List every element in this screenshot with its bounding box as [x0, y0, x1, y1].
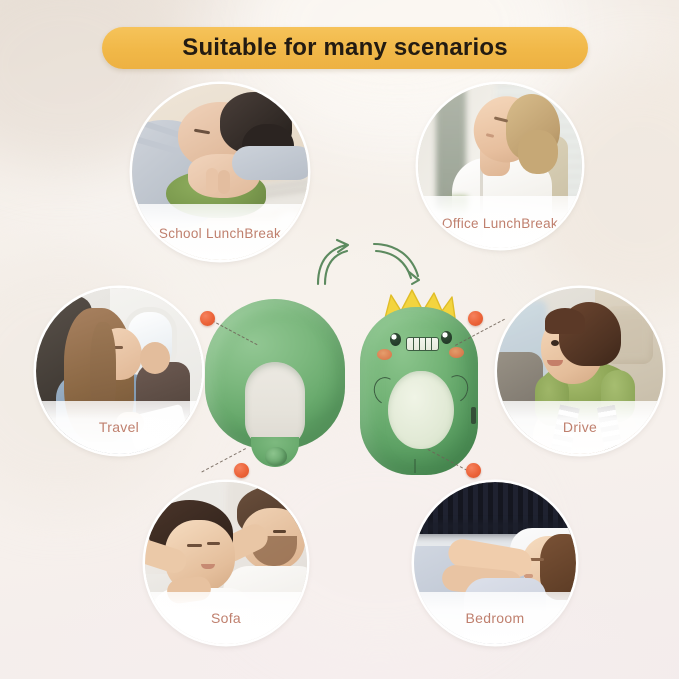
connector-dot-dino-to-drive: [468, 311, 483, 326]
scene-label-drive: Drive: [497, 401, 663, 454]
scene-bedroom[interactable]: Bedroom: [414, 482, 576, 644]
u-pillow-snap-button: [265, 447, 287, 466]
product-group: [200, 285, 500, 485]
scene-label-bedroom: Bedroom: [414, 592, 576, 644]
u-pillow-opening: [245, 362, 305, 448]
scene-label-line-2: Break: [244, 226, 281, 242]
page-title: Suitable for many scenarios: [182, 34, 508, 62]
scene-label-travel: Travel: [36, 401, 202, 454]
dino-fabric-tag: [471, 407, 476, 424]
scene-label-line-1: Travel: [99, 419, 139, 436]
dino-tooth: [425, 338, 426, 350]
scene-label-line-1: Sofa: [211, 610, 241, 627]
connector-dot-dino-to-bedroom: [466, 463, 481, 478]
dino-cheek-right: [449, 347, 464, 358]
connector-dot-u-pillow-to-sofa: [234, 463, 249, 478]
dino-cheek-left: [377, 349, 392, 360]
infographic-canvas: Suitable for many scenarios: [0, 0, 679, 679]
product-dino-plush[interactable]: [352, 289, 487, 479]
transform-arrows: [312, 238, 432, 286]
arrow-curve-left-up: [318, 245, 346, 284]
dino-tooth: [431, 338, 432, 350]
dino-eye-right: [441, 331, 452, 344]
connector-dot-u-pillow-to-travel: [200, 311, 215, 326]
scene-label-school-lunch-break: School Lunch Break: [132, 204, 308, 260]
scene-school-lunch-break[interactable]: School Lunch Break: [132, 84, 308, 260]
scene-label-line-2: Break: [521, 216, 558, 232]
dino-bottom-seam: [414, 459, 416, 473]
arrow-curve-left-up-inner: [325, 251, 347, 284]
dino-tooth: [413, 338, 414, 350]
scene-label-office-lunch-break: Office Lunch Break: [418, 196, 582, 248]
dino-tooth: [419, 338, 420, 350]
dino-belly-patch: [388, 371, 454, 449]
scene-label-line-1: Bedroom: [466, 610, 525, 627]
arrow-curve-right-down: [374, 244, 418, 276]
dino-mouth: [406, 337, 439, 351]
scene-travel[interactable]: Travel: [36, 288, 202, 454]
scene-office-lunch-break[interactable]: Office Lunch Break: [418, 84, 582, 248]
dino-eye-left: [390, 333, 401, 346]
scene-sofa[interactable]: Sofa: [145, 482, 307, 644]
scene-label-sofa: Sofa: [145, 592, 307, 644]
scene-label-line-1: Drive: [563, 419, 597, 436]
scene-label-line-1: Office Lunch: [442, 216, 521, 232]
scene-drive[interactable]: Drive: [497, 288, 663, 454]
scene-label-line-1: School Lunch: [159, 226, 244, 242]
product-u-pillow[interactable]: [205, 299, 345, 474]
transform-arrows-svg: [312, 238, 432, 286]
title-banner: Suitable for many scenarios: [102, 27, 588, 69]
